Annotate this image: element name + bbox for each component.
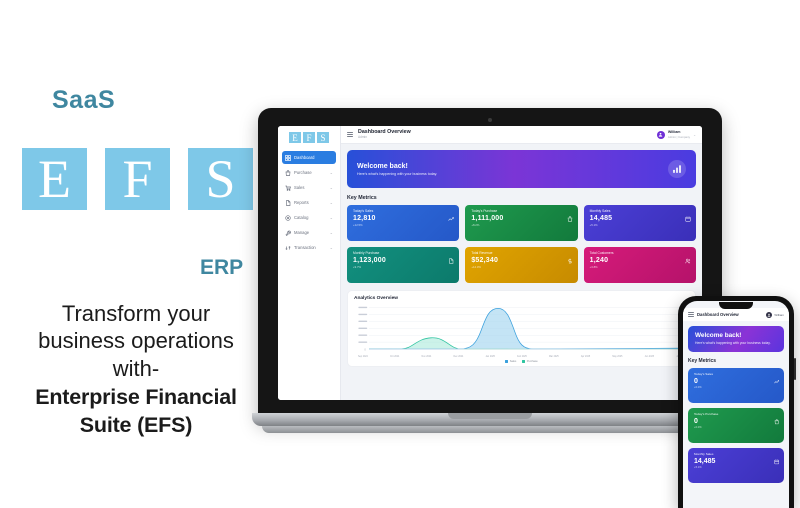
laptop-camera-icon [488, 118, 492, 122]
metric-card-monthly-purchase[interactable]: Monthly Purchase 1,123,000 +9.7% [347, 247, 459, 283]
users-icon [685, 251, 691, 257]
tagline-bold-1: Enterprise Financial [0, 384, 272, 411]
metric-label: Total Customers [590, 251, 690, 255]
x-tick: Apr 2025 [581, 356, 590, 358]
promo-subkicker: ERP [200, 256, 243, 280]
metric-value: 1,111,000 [471, 215, 571, 222]
avatar [766, 312, 772, 318]
metric-card-total-revenue[interactable]: Total Revenue $52,340 +14.3% [465, 247, 577, 283]
analytics-chart: 0 [354, 304, 689, 356]
bag-icon [774, 412, 780, 418]
metric-value: 0 [694, 378, 778, 385]
box-icon [285, 215, 291, 221]
phone-notch [719, 302, 753, 309]
chevron-down-icon: ⌄ [693, 133, 696, 137]
metric-label: Total Revenue [471, 251, 571, 255]
user-menu[interactable]: William Admin | Company ⌄ [657, 130, 696, 138]
trending-up-icon [448, 209, 454, 215]
welcome-text: Welcome back! Here's what's happening wi… [357, 163, 437, 176]
phone-welcome-subtitle: Here's what's happening with your busine… [695, 341, 777, 346]
phone-topbar: Dashboard Overview William [683, 308, 789, 321]
welcome-subtitle: Here's what's happening with your busine… [357, 172, 437, 176]
promo-tagline: Transform your business operations with-… [0, 300, 272, 439]
welcome-title: Welcome back! [357, 163, 437, 170]
phone-side-button [794, 358, 796, 380]
legend-item-purchase[interactable]: Purchase [522, 360, 537, 363]
sidebar-item-catalog[interactable]: Catalog ⌄ [282, 211, 336, 224]
user-info: William Admin | Company [668, 130, 690, 138]
tagline-line-1: Transform your [0, 300, 272, 327]
bag-icon [567, 209, 573, 215]
chart-legend: Sales Purchase [354, 360, 689, 363]
chevron-down-icon: ⌄ [330, 215, 333, 220]
calendar-icon [774, 452, 780, 458]
logo-tile-s: S [188, 148, 253, 210]
sidebar-logo: E F S [278, 126, 340, 149]
calendar-icon [685, 209, 691, 215]
tagline-line-3: with- [0, 355, 272, 382]
metric-card-todays-sales[interactable]: Today's Sales 12,810 +12.5% [347, 205, 459, 241]
laptop-foot [262, 426, 718, 433]
sidebar-item-reports[interactable]: Reports ⌄ [282, 196, 336, 209]
document-icon [285, 200, 291, 206]
chart-svg: 0 [354, 304, 689, 356]
logo-tile-e: E [22, 148, 87, 210]
legend-label: Sales [510, 360, 517, 363]
sidebar-item-transaction[interactable]: Transaction ⌄ [282, 241, 336, 254]
trending-up-icon [774, 372, 780, 378]
sidebar-item-sales[interactable]: Sales ⌄ [282, 181, 336, 194]
x-tick: Nov 2024 [421, 356, 431, 358]
metric-label: Today's Purchase [694, 412, 778, 416]
sidebar-label-manage: Manage [294, 230, 327, 235]
dashboard-app: E F S Dashboard Purchase ⌄ [278, 126, 702, 400]
metric-value: 12,810 [353, 215, 453, 222]
promo-kicker: SaaS [52, 86, 115, 115]
metric-value: $52,340 [471, 257, 571, 264]
sidebar-label-reports: Reports [294, 200, 327, 205]
sidebar-logo-f: F [303, 132, 315, 143]
metric-delta: +0.0% [694, 386, 778, 389]
sidebar-label-transaction: Transaction [294, 245, 327, 250]
metric-card-monthly-sales[interactable]: Monthly Sales 14,485 +5.1% [584, 205, 696, 241]
metric-value: 14,485 [590, 215, 690, 222]
analytics-panel: Analytics Overview [347, 290, 696, 367]
metric-card-total-customers[interactable]: Total Customers 1,240 +3.8% [584, 247, 696, 283]
x-tick: Jun 2025 [645, 356, 654, 358]
topbar: Dashboard Overview Admin William Admin |… [341, 126, 702, 144]
grid-icon [285, 155, 291, 161]
x-tick: Feb 2025 [517, 356, 527, 358]
phone-metric-card-todays-purchase[interactable]: Today's Purchase 0 +0.0% [688, 408, 784, 443]
chart-x-axis: Sep 2024 Oct 2024 Nov 2024 Dec 2024 Jan … [354, 356, 689, 358]
phone-mockup: Dashboard Overview William Welcome back!… [678, 296, 794, 508]
svg-text:0: 0 [364, 347, 366, 351]
avatar [657, 131, 665, 139]
metric-label: Monthly Sales [590, 209, 690, 213]
metric-delta: +0.0% [694, 426, 778, 429]
laptop-screen: E F S Dashboard Purchase ⌄ [278, 126, 702, 400]
welcome-banner: Welcome back! Here's what's happening wi… [347, 150, 696, 188]
promo-panel: SaaS E F S ERP Transform your business o… [0, 0, 272, 500]
metric-delta: +3.8% [590, 265, 690, 269]
tagline-line-2: business operations [0, 327, 272, 354]
chevron-down-icon: ⌄ [330, 200, 333, 205]
x-tick: Jan 2025 [485, 356, 494, 358]
analytics-title: Analytics Overview [354, 296, 689, 301]
metric-label: Today's Sales [694, 372, 778, 376]
metric-delta: +9.7% [353, 265, 453, 269]
metric-delta: +5.1% [590, 223, 690, 227]
chevron-down-icon: ⌄ [330, 230, 333, 235]
page-subtitle: Admin [358, 135, 411, 139]
metrics-grid: Today's Sales 12,810 +12.5% Today's Purc… [347, 205, 696, 283]
metric-value: 1,123,000 [353, 257, 453, 264]
sidebar-item-manage[interactable]: Manage ⌄ [282, 226, 336, 239]
metric-delta: +14.3% [471, 265, 571, 269]
sidebar-logo-s: S [317, 132, 329, 143]
metric-delta: +12.5% [353, 223, 453, 227]
page-title-block: Dashboard Overview Admin [358, 130, 411, 140]
metric-label: Monthly Sales [694, 452, 778, 456]
bag-icon [285, 170, 291, 176]
chevron-down-icon: ⌄ [330, 245, 333, 250]
metric-delta: +5.1% [694, 466, 778, 469]
phone-metric-card-todays-sales[interactable]: Today's Sales 0 +0.0% [688, 368, 784, 403]
phone-metric-card-monthly-sales[interactable]: Monthly Sales 14,485 +5.1% [688, 448, 784, 483]
metric-label: Today's Purchase [471, 209, 571, 213]
cart-icon [285, 185, 291, 191]
hamburger-menu-icon[interactable] [688, 312, 694, 317]
metric-value: 1,240 [590, 257, 690, 264]
legend-label: Purchase [527, 360, 538, 363]
phone-user-menu[interactable]: William [766, 312, 784, 318]
sidebar: E F S Dashboard Purchase ⌄ [278, 126, 341, 400]
phone-welcome-title: Welcome back! [695, 332, 777, 339]
document-icon [448, 251, 454, 257]
x-tick: Sep 2024 [358, 356, 368, 358]
dollar-icon [567, 251, 573, 257]
laptop-mockup: E F S Dashboard Purchase ⌄ [252, 108, 728, 448]
phone-user-name: William [774, 313, 784, 317]
metrics-heading: Key Metrics [347, 195, 696, 201]
phone-screen: Dashboard Overview William Welcome back!… [683, 301, 789, 508]
laptop-trackpad-notch [448, 413, 532, 419]
x-tick: Dec 2024 [453, 356, 463, 358]
chevron-down-icon: ⌄ [330, 185, 333, 190]
sidebar-label-sales: Sales [294, 185, 327, 190]
metric-card-todays-purchase[interactable]: Today's Purchase 1,111,000 +8.2% [465, 205, 577, 241]
legend-item-sales[interactable]: Sales [505, 360, 516, 363]
efs-logo-tiles: E F S [22, 148, 253, 210]
x-tick: Oct 2024 [390, 356, 399, 358]
phone-page-title: Dashboard Overview [697, 312, 739, 317]
phone-welcome-banner: Welcome back! Here's what's happening wi… [688, 326, 784, 352]
metric-value: 0 [694, 418, 778, 425]
metric-label: Monthly Purchase [353, 251, 453, 255]
transfer-icon [285, 245, 291, 251]
phone-content: Welcome back! Here's what's happening wi… [683, 321, 789, 493]
sidebar-item-dashboard[interactable]: Dashboard [282, 151, 336, 164]
hamburger-menu-icon[interactable] [347, 132, 353, 137]
laptop-lid: E F S Dashboard Purchase ⌄ [258, 108, 722, 421]
sidebar-item-purchase[interactable]: Purchase ⌄ [282, 166, 336, 179]
metric-value: 14,485 [694, 458, 778, 465]
main-content: Dashboard Overview Admin William Admin |… [341, 126, 702, 400]
x-tick: May 2025 [612, 356, 622, 358]
wrench-icon [285, 230, 291, 236]
metric-label: Today's Sales [353, 209, 453, 213]
user-role: Admin | Company [668, 135, 690, 139]
sidebar-label-dashboard: Dashboard [294, 155, 333, 160]
tagline-bold-2: Suite (EFS) [0, 412, 272, 439]
dashboard-body: Welcome back! Here's what's happening wi… [341, 144, 702, 400]
sidebar-label-catalog: Catalog [294, 215, 327, 220]
logo-tile-f: F [105, 148, 170, 210]
metric-delta: +8.2% [471, 223, 571, 227]
phone-metrics-heading: Key Metrics [688, 358, 784, 364]
x-tick: Mar 2025 [549, 356, 559, 358]
bar-chart-icon [668, 160, 686, 178]
chevron-down-icon: ⌄ [330, 170, 333, 175]
sidebar-label-purchase: Purchase [294, 170, 327, 175]
sidebar-logo-e: E [289, 132, 301, 143]
